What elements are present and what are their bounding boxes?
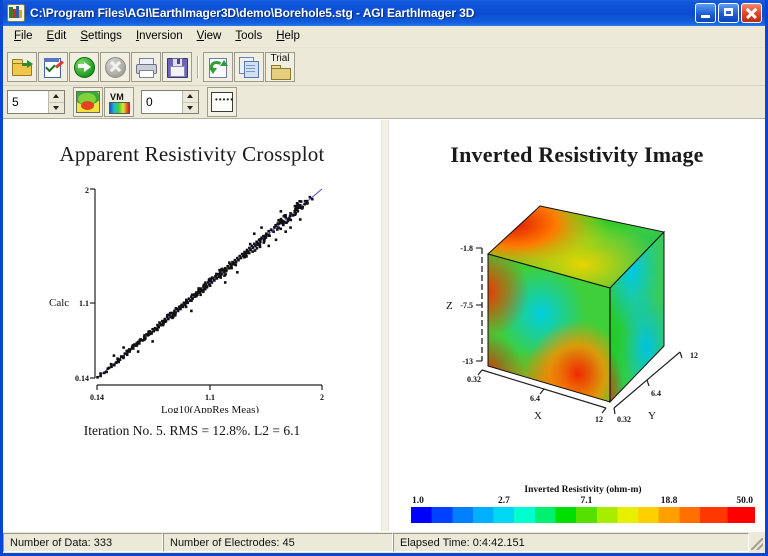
trial-folder-icon: [270, 65, 290, 78]
menu-item-help[interactable]: Help: [269, 28, 307, 45]
toolbar-separator-1: [197, 56, 199, 78]
menu-label-inversion-rest: nversion: [139, 30, 182, 42]
printer-icon: [135, 56, 157, 78]
application-icon: [7, 4, 25, 22]
title-bar[interactable]: C:\Program Files\AGI\EarthImager3D\demo\…: [3, 0, 765, 26]
application-window: C:\Program Files\AGI\EarthImager3D\demo\…: [0, 0, 768, 556]
menu-label-edit-rest: dit: [54, 30, 66, 42]
open-file-button[interactable]: [7, 52, 37, 82]
slice-spinner-buttons: [182, 91, 198, 113]
cube-x-tick-end: 12: [595, 415, 603, 424]
slice-spinner-down[interactable]: [183, 103, 198, 114]
menu-label-help-rest: elp: [285, 30, 300, 42]
trial-button[interactable]: Trial: [265, 52, 295, 82]
menu-item-edit[interactable]: Edit: [40, 28, 74, 45]
vm-cube-icon: VM: [108, 92, 130, 113]
menu-item-inversion[interactable]: Inversion: [129, 28, 190, 45]
crossplot-y-axis-label: Calc: [49, 297, 69, 309]
grey-stop-icon: [104, 56, 126, 78]
trial-button-label: Trial: [270, 54, 289, 64]
iteration-spinner[interactable]: [7, 90, 65, 114]
iteration-spinner-buttons: [48, 91, 64, 113]
close-button[interactable]: [741, 3, 762, 23]
cube-z-tick-top: -1.8: [460, 244, 473, 253]
file-toolbar-group: [7, 52, 193, 82]
stop-inversion-button[interactable]: [100, 52, 130, 82]
open-folder-icon: [11, 56, 33, 78]
grid-dots: •••••: [215, 96, 234, 104]
copy-sheets-icon: [238, 56, 260, 78]
iteration-spinner-down[interactable]: [49, 103, 64, 114]
grid-view-button[interactable]: •••••: [207, 87, 237, 117]
colorbar-tick-labels: 1.0 2.7 7.1 18.8 50.0: [411, 496, 755, 507]
vm-view-button[interactable]: VM: [104, 87, 134, 117]
iteration-spinner-input[interactable]: [8, 91, 48, 113]
status-bar: Number of Data: 333 Number of Electrodes…: [3, 531, 765, 553]
colorbar: Inverted Resistivity (ohm-m) 1.0 2.7 7.1…: [411, 485, 755, 523]
crossplot-title: Apparent Resistivity Crossplot: [3, 120, 381, 167]
process-toolbar-group: Trial: [203, 52, 296, 82]
refresh-doc-icon: [207, 56, 229, 78]
cube-y-axis-label: Y: [648, 410, 656, 422]
client-area: Apparent Resistivity Crossplot Calc 2 1.…: [3, 119, 765, 531]
cube-z-tick-mid: -7.5: [460, 301, 473, 310]
menu-label-settings-rest: ettings: [88, 30, 122, 42]
refresh-button[interactable]: [203, 52, 233, 82]
resize-grip[interactable]: [749, 533, 765, 552]
menu-label-tools-rest: ools: [241, 30, 262, 42]
menu-bar: File Edit Settings Inversion View Tools …: [3, 26, 765, 48]
vm-button-label: VM: [110, 92, 124, 102]
cube-x-tick-mid: 6.4: [530, 394, 540, 403]
green-go-icon: [73, 56, 95, 78]
inverted-image-panel: Inverted Resistivity Image: [389, 120, 765, 531]
toolbar-area: Trial: [3, 48, 765, 119]
colorbar-tick-3: 18.8: [661, 496, 678, 506]
colorbar-tick-2: 7.1: [581, 496, 593, 506]
copy-button[interactable]: [234, 52, 264, 82]
colorbar-gradient-strip: [411, 507, 755, 523]
inverted-image-title: Inverted Resistivity Image: [389, 120, 765, 168]
main-toolbar: Trial: [3, 48, 765, 86]
cube-x-tick-start: 0.32: [467, 375, 481, 384]
slice-spinner[interactable]: [141, 90, 199, 114]
crossplot-chart: Calc 2 1.1 0.14 0.14 1.1 2 Log10(AppRes …: [27, 173, 357, 413]
slice-spinner-input[interactable]: [142, 91, 182, 113]
colorbar-tick-4: 50.0: [736, 496, 753, 506]
panel-splitter[interactable]: [381, 120, 389, 531]
grid-icon: •••••: [211, 92, 233, 112]
contour-map-icon: [76, 91, 100, 113]
crossplot-x-tick-left: 0.14: [90, 393, 104, 402]
crossplot-x-tick-mid: 1.1: [205, 393, 215, 402]
resistivity-cube-chart: -1.8 -7.5 -13 Z 0.32 6.4 12 X 0.32 6: [402, 170, 752, 438]
menu-item-view[interactable]: View: [190, 28, 229, 45]
crossplot-x-axis-label: Log10(AppRes Meas): [161, 404, 259, 413]
cube-y-tick-end: 12: [690, 351, 698, 360]
status-number-of-data: Number of Data: 333: [3, 533, 163, 552]
colorbar-tick-1: 2.7: [498, 496, 510, 506]
menu-item-settings[interactable]: Settings: [73, 28, 129, 45]
print-button[interactable]: [131, 52, 161, 82]
view-toolbar: VM •••••: [3, 86, 765, 118]
crossplot-data-points: [96, 196, 313, 379]
menu-label-file-rest: ile: [21, 30, 33, 42]
cube-z-tick-bottom: -13: [462, 357, 473, 366]
maximize-button[interactable]: [718, 3, 739, 23]
crossplot-x-tick-right: 2: [320, 393, 324, 402]
colorbar-caption: Inverted Resistivity (ohm-m): [411, 485, 755, 495]
cube-x-axis-label: X: [534, 410, 542, 422]
menu-item-file[interactable]: File: [7, 28, 40, 45]
minimize-button[interactable]: [695, 3, 716, 23]
status-number-of-electrodes: Number of Electrodes: 45: [163, 533, 393, 552]
iteration-summary: Iteration No. 5. RMS = 12.8%. L2 = 6.1: [3, 423, 381, 439]
crossplot-y-tick-mid: 1.1: [79, 299, 89, 308]
menu-item-tools[interactable]: Tools: [228, 28, 269, 45]
slice-spinner-up[interactable]: [183, 91, 198, 103]
cube-y-tick-mid: 6.4: [651, 389, 661, 398]
save-button[interactable]: [162, 52, 192, 82]
menu-label-view-rest: iew: [204, 30, 221, 42]
window-controls: [695, 3, 763, 23]
status-elapsed-time: Elapsed Time: 0:4:42.151: [393, 533, 749, 552]
floppy-save-icon: [166, 56, 188, 78]
cube-y-tick-start: 0.32: [617, 415, 631, 424]
contour-view-button[interactable]: [73, 87, 103, 117]
colorbar-tick-0: 1.0: [412, 496, 424, 506]
document-edit-icon: [42, 56, 64, 78]
window-title: C:\Program Files\AGI\EarthImager3D\demo\…: [30, 6, 695, 20]
crossplot-panel: Apparent Resistivity Crossplot Calc 2 1.…: [3, 120, 381, 531]
cube-z-axis-label: Z: [446, 300, 453, 312]
crossplot-y-tick-bottom: 0.14: [75, 374, 89, 383]
edit-properties-button[interactable]: [38, 52, 68, 82]
iteration-spinner-up[interactable]: [49, 91, 64, 103]
crossplot-y-tick-top: 2: [85, 186, 89, 195]
start-inversion-button[interactable]: [69, 52, 99, 82]
